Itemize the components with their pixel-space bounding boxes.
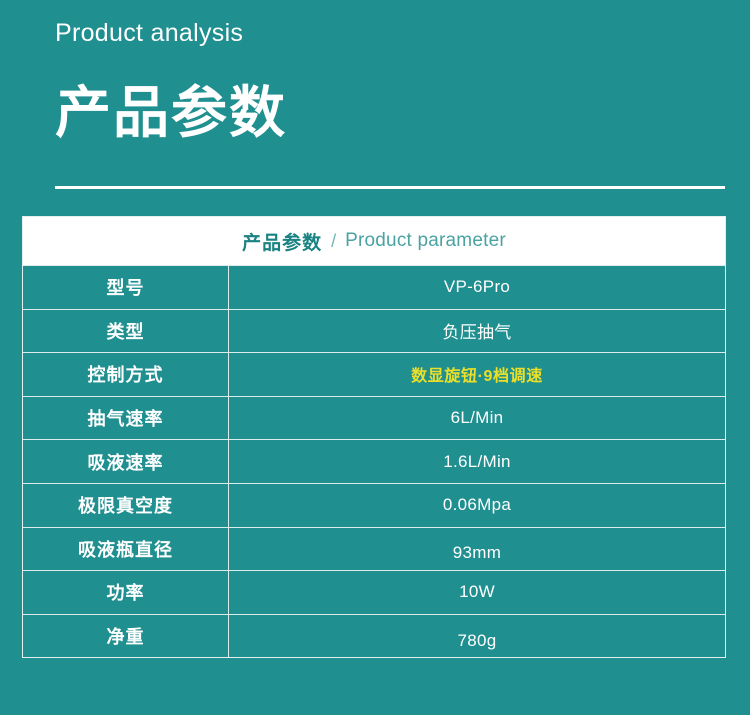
table-cell-label: 控制方式 — [23, 353, 229, 396]
table-cell-label: 型号 — [23, 266, 229, 309]
title-divider — [55, 186, 725, 189]
table-cell-value: 10W — [229, 571, 725, 614]
table-header-row: 产品参数 / Product parameter — [23, 217, 725, 265]
table-cell-value: 0.06Mpa — [229, 484, 725, 527]
table-row: 控制方式数显旋钮·9档调速 — [23, 352, 725, 396]
table-cell-value: 1.6L/Min — [229, 440, 725, 483]
table-cell-label: 类型 — [23, 310, 229, 353]
table-row: 极限真空度0.06Mpa — [23, 483, 725, 527]
table-cell-label: 极限真空度 — [23, 484, 229, 527]
table-header-separator: / — [331, 231, 336, 252]
table-row: 型号VP-6Pro — [23, 265, 725, 309]
header-eyebrow: Product analysis — [55, 18, 243, 48]
table-cell-value: 数显旋钮·9档调速 — [229, 353, 725, 396]
table-row: 功率10W — [23, 570, 725, 614]
table-row: 吸液瓶直径93mm — [23, 527, 725, 571]
table-cell-label: 吸液速率 — [23, 440, 229, 483]
table-cell-value: VP-6Pro — [229, 266, 725, 309]
table-header-title-en: Product parameter — [345, 230, 506, 252]
table-cell-label: 净重 — [23, 615, 229, 658]
table-row: 净重780g — [23, 614, 725, 658]
page-title: 产品参数 — [55, 81, 287, 145]
table-row: 抽气速率6L/Min — [23, 396, 725, 440]
table-row: 类型负压抽气 — [23, 309, 725, 353]
table-cell-label: 功率 — [23, 571, 229, 614]
table-cell-value: 93mm — [229, 528, 725, 571]
table-cell-label: 吸液瓶直径 — [23, 528, 229, 571]
product-parameter-table: 产品参数 / Product parameter 型号VP-6Pro类型负压抽气… — [22, 216, 726, 658]
table-cell-value: 负压抽气 — [229, 310, 725, 353]
table-cell-label: 抽气速率 — [23, 397, 229, 440]
table-body: 型号VP-6Pro类型负压抽气控制方式数显旋钮·9档调速抽气速率6L/Min吸液… — [23, 265, 725, 657]
table-cell-value: 780g — [229, 615, 725, 658]
table-header-title-cn: 产品参数 — [242, 228, 322, 255]
table-cell-value: 6L/Min — [229, 397, 725, 440]
table-row: 吸液速率1.6L/Min — [23, 439, 725, 483]
